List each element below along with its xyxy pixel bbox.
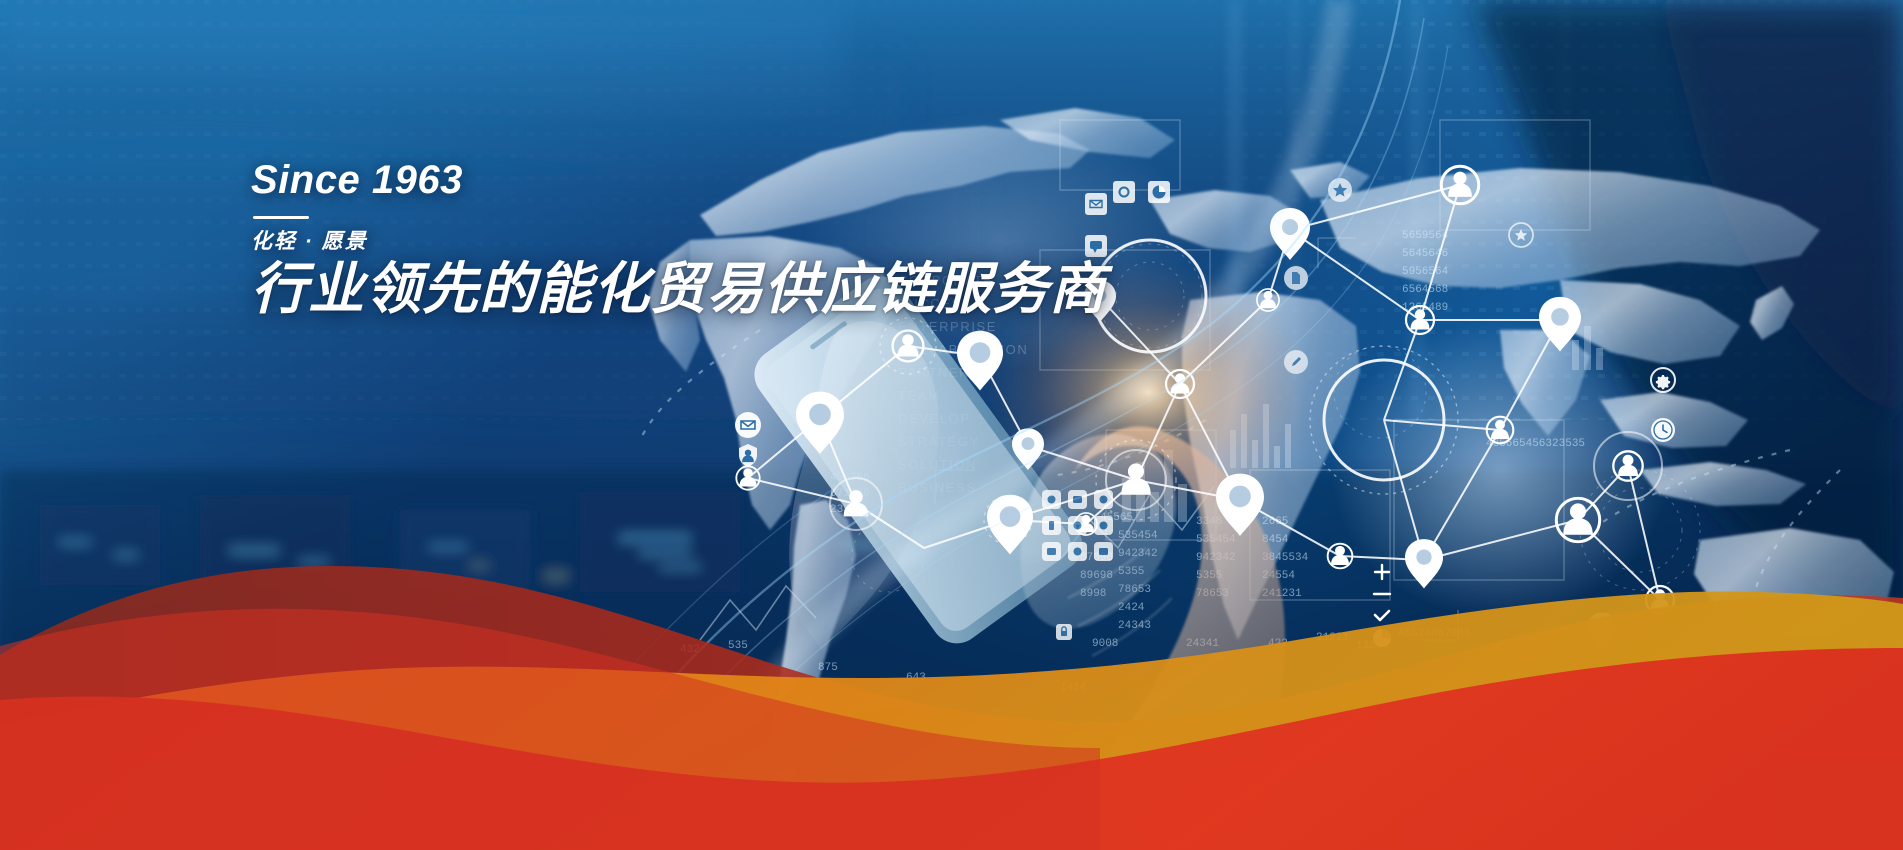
- headline-text-block: Since 1963 化轻 · 愿景 行业领先的能化贸易供应链服务商: [251, 160, 1106, 321]
- since-label: Since 1963: [251, 160, 1106, 200]
- hero-banner: 5659564 5645646 5956564 6564568 1265489 …: [0, 0, 1903, 850]
- color-wave-layer: [0, 0, 1903, 850]
- title-divider: [253, 216, 309, 219]
- page-title: 行业领先的能化贸易供应链服务商: [251, 258, 1106, 321]
- vision-subtitle: 化轻 · 愿景: [251, 229, 1106, 254]
